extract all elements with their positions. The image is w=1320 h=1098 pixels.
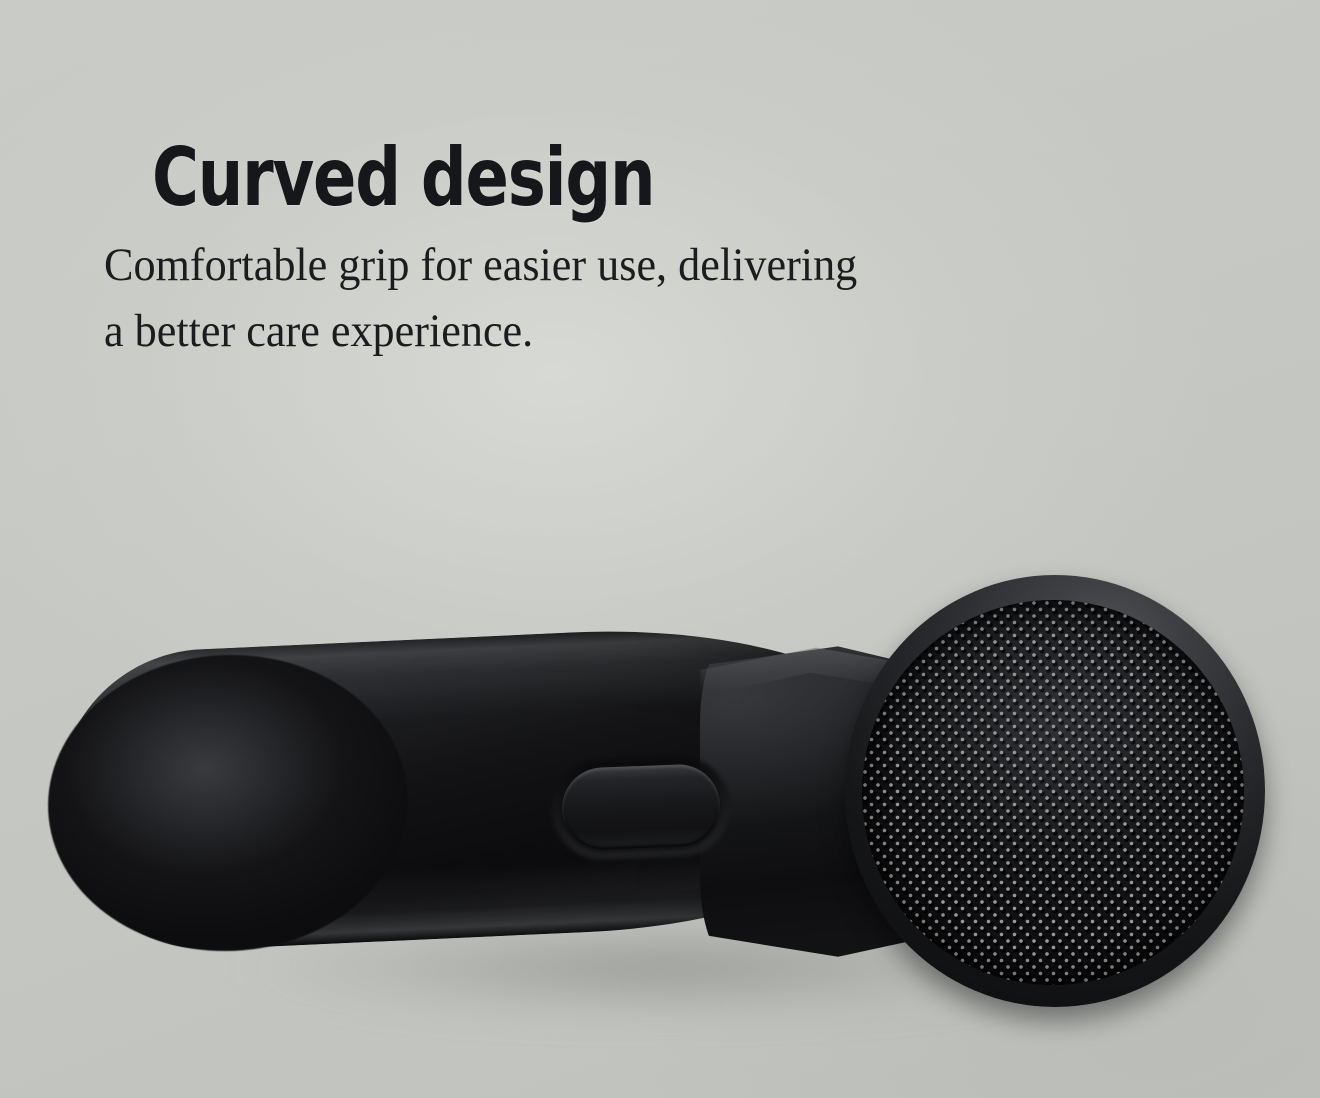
brush-handle xyxy=(51,617,934,956)
silicone-bristle-pad xyxy=(862,600,1244,985)
neck-highlight xyxy=(700,642,990,712)
brush-head-rim-highlight xyxy=(845,575,1265,1007)
power-button xyxy=(560,763,721,851)
bristle-dots xyxy=(862,600,1244,985)
bristle-dot-shadows xyxy=(862,600,1244,985)
brush-neck xyxy=(700,640,1000,960)
brush-head-rim-shadow xyxy=(845,575,1265,1007)
description-line-2: a better care experience. xyxy=(104,298,950,364)
head-contact-shadow xyxy=(820,660,940,890)
power-button-recess xyxy=(550,755,732,862)
bristle-pad-shading xyxy=(862,600,1244,985)
brush-head xyxy=(845,575,1265,1007)
product-drop-shadow xyxy=(95,900,1225,1035)
page-title: Curved design xyxy=(152,138,654,218)
product-feature-banner: Curved design Comfortable grip for easie… xyxy=(0,0,1320,1098)
description-text: Comfortable grip for easier use, deliver… xyxy=(104,232,950,364)
handle-grip-bulb xyxy=(41,647,414,959)
description-line-1: Comfortable grip for easier use, deliver… xyxy=(104,232,950,298)
